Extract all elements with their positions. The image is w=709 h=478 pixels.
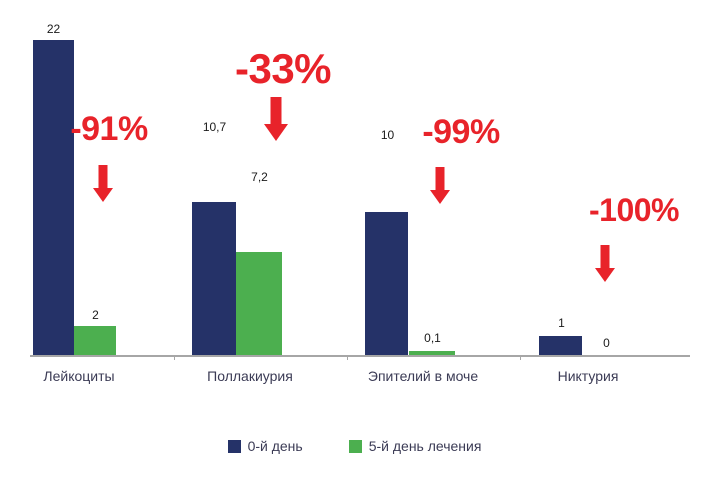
bar-value-navy-nocturia: 1: [531, 316, 592, 330]
annotation-nocturia: -100%: [573, 192, 695, 229]
chart-legend: 0-й день 5-й день лечения: [0, 438, 709, 454]
annotation-pollakiuria: -33%: [228, 45, 338, 93]
legend-item-day5[interactable]: 5-й день лечения: [349, 438, 482, 454]
legend-swatch-green-icon: [349, 440, 362, 453]
axis-tick-separator-1: [174, 355, 175, 360]
legend-label-day0: 0-й день: [248, 438, 303, 454]
legend-label-day5: 5-й день лечения: [369, 438, 482, 454]
bar-value-navy-epithelium: 10: [357, 128, 418, 142]
bar-value-navy-pollakiuria: 10,7: [184, 120, 245, 134]
category-label-pollakiuria: Поллакиурия: [180, 368, 320, 384]
category-label-leukocytes: Лейкоциты: [14, 368, 144, 384]
plot-area: 22 2 -91% 10,7 7,2 -33% 10 0,1 -99% 1: [0, 0, 709, 360]
bar-green-leukocytes: [74, 326, 116, 355]
x-axis-line: [30, 355, 690, 357]
bar-green-epithelium: [409, 351, 455, 355]
bar-value-navy-leukocytes: 22: [23, 22, 84, 36]
bar-value-green-pollakiuria: 7,2: [229, 170, 290, 184]
down-arrow-icon-leukocytes: [91, 165, 115, 202]
bar-value-green-epithelium: 0,1: [402, 331, 463, 345]
down-arrow-icon-pollakiuria: [262, 97, 290, 141]
category-label-epithelium: Эпителий в моче: [343, 368, 503, 384]
category-label-nocturia: Никтурия: [518, 368, 658, 384]
annotation-leukocytes: -91%: [69, 110, 149, 149]
annotation-epithelium: -99%: [415, 113, 507, 152]
bar-green-pollakiuria: [236, 252, 282, 355]
down-arrow-icon-epithelium: [428, 167, 452, 204]
bar-value-green-leukocytes: 2: [65, 308, 126, 322]
axis-tick-separator-2: [347, 355, 348, 360]
bar-navy-pollakiuria: [192, 202, 236, 355]
legend-swatch-navy-icon: [228, 440, 241, 453]
down-arrow-icon-nocturia: [593, 245, 617, 282]
axis-tick-separator-3: [520, 355, 521, 360]
legend-item-day0[interactable]: 0-й день: [228, 438, 303, 454]
bar-value-green-nocturia: 0: [576, 336, 637, 350]
bar-chart: 22 2 -91% 10,7 7,2 -33% 10 0,1 -99% 1: [0, 0, 709, 478]
